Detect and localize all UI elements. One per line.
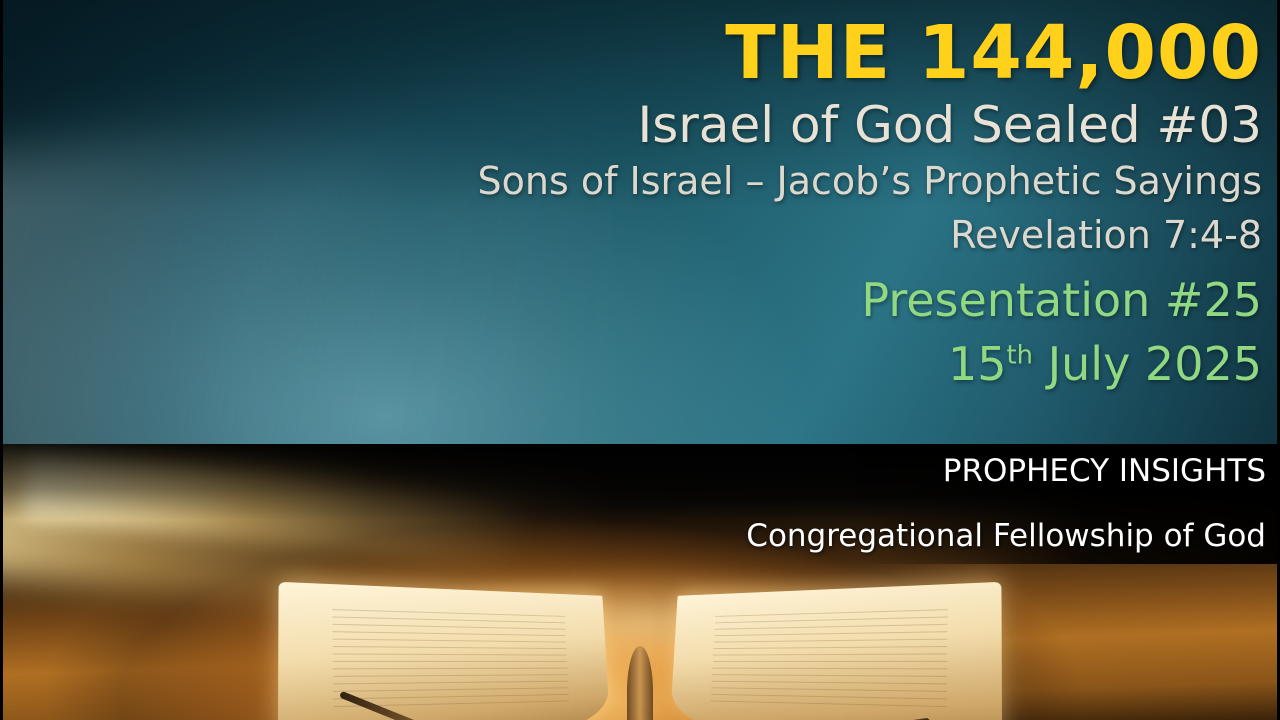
footer-block: PROPHECY INSIGHTS Congregational Fellows…	[646, 452, 1266, 556]
book-spine	[627, 646, 653, 720]
title-block: THE 144,000 Israel of God Sealed #03 Son…	[262, 16, 1262, 392]
slide-title: THE 144,000	[262, 16, 1262, 91]
presentation-slide: THE 144,000 Israel of God Sealed #03 Son…	[0, 0, 1280, 720]
presentation-number: Presentation #25	[262, 273, 1262, 328]
scripture-reference: Revelation 7:4-8	[262, 212, 1262, 260]
date-month-year: July 2025	[1033, 337, 1262, 391]
book-right-text-lines	[710, 609, 948, 708]
slide-subtitle-topic: Sons of Israel – Jacob’s Prophetic Sayin…	[262, 158, 1262, 206]
footer-organization: PROPHECY INSIGHTS	[646, 452, 1266, 491]
open-book-icon	[280, 558, 1000, 720]
slide-subtitle-series: Israel of God Sealed #03	[262, 95, 1262, 156]
date-ordinal-suffix: th	[1007, 340, 1033, 370]
book-right-page	[670, 582, 1003, 720]
book-left-text-lines	[332, 609, 570, 708]
date-day: 15	[948, 337, 1007, 391]
book-left-page	[278, 582, 611, 720]
presentation-date: 15th July 2025	[262, 337, 1262, 392]
footer-fellowship: Congregational Fellowship of God	[646, 517, 1266, 556]
